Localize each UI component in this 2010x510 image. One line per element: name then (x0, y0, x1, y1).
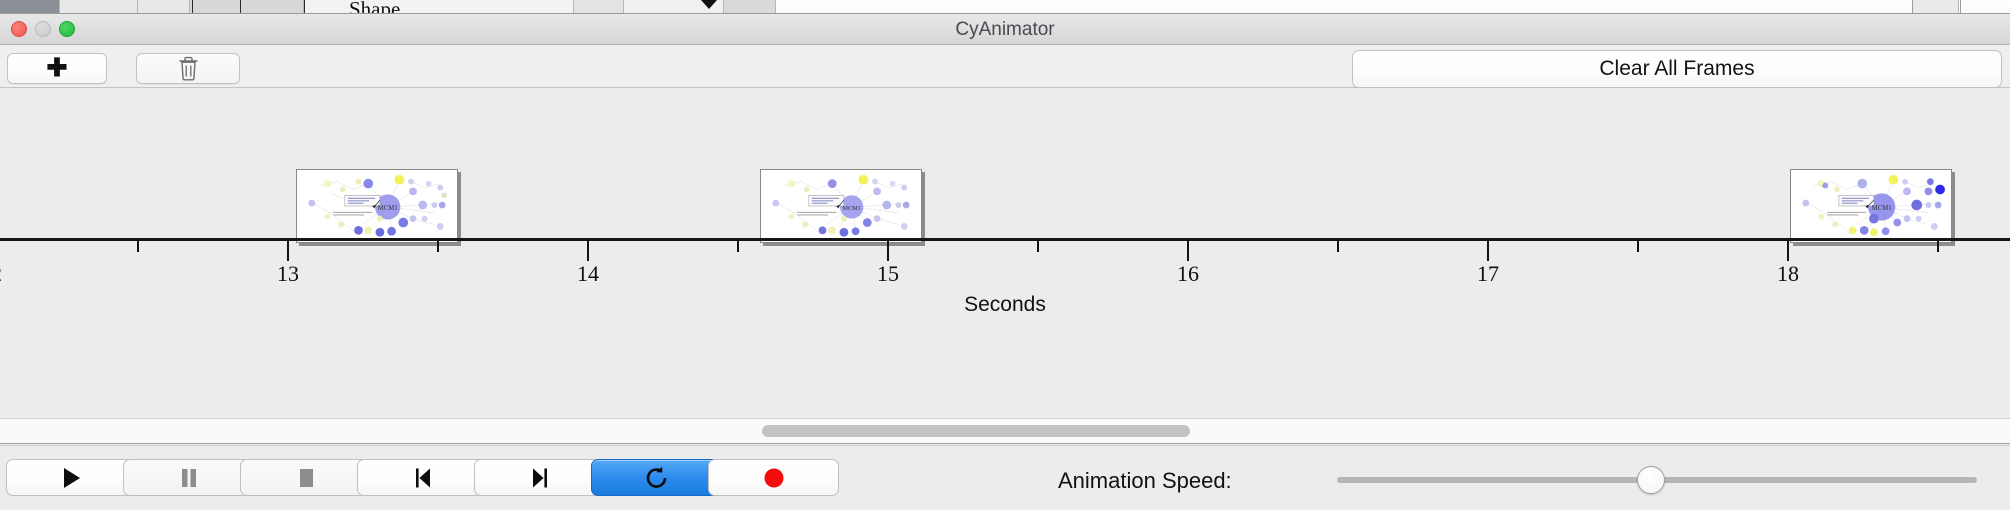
frame-thumbnail[interactable]: MCM1 (1790, 169, 1952, 243)
window-title: CyAnimator (0, 14, 2010, 45)
frame-thumbnail[interactable]: MCM1 (760, 169, 922, 243)
axis-tick-major (287, 241, 289, 261)
bg-strip-segment (574, 0, 624, 14)
skip-previous-icon (412, 466, 434, 490)
clear-all-frames-button[interactable]: Clear All Frames (1352, 50, 2002, 88)
bg-strip-segment (304, 0, 574, 14)
bg-strip-segment (724, 0, 776, 14)
toolbar: ✚ Clear All Frames (0, 45, 2010, 88)
axis-tick-label: 13 (277, 261, 299, 287)
bg-strip-segment (0, 0, 60, 14)
next-frame-button[interactable] (474, 459, 605, 496)
animation-speed-slider-thumb[interactable] (1637, 466, 1665, 494)
background-cursor-arrow (701, 0, 717, 9)
frame-thumbnail[interactable]: MCM1 (296, 169, 458, 243)
axis-tick-major (1787, 241, 1789, 261)
pause-button[interactable] (123, 459, 254, 496)
axis-tick-major (1487, 241, 1489, 261)
network-graph-thumbnail: MCM1 (1791, 170, 1951, 242)
record-icon (762, 466, 786, 490)
axis-tick-label: 15 (877, 261, 899, 287)
animation-speed-label: Animation Speed: (1058, 468, 1232, 494)
svg-text:MCM1: MCM1 (842, 205, 861, 212)
axis-tick-major (1187, 241, 1189, 261)
axis-tick-minor (437, 241, 439, 252)
axis-tick-minor (1037, 241, 1039, 252)
title-bar: CyAnimator (0, 14, 2010, 45)
axis-tick-label: 18 (1777, 261, 1799, 287)
background-tab-label: Shape (349, 0, 400, 14)
add-frame-button[interactable]: ✚ (7, 53, 107, 84)
play-button[interactable] (6, 459, 137, 496)
stop-icon (295, 466, 317, 490)
previous-frame-button[interactable] (357, 459, 488, 496)
axis-tick-minor (137, 241, 139, 252)
axis-tick-minor (1337, 241, 1339, 252)
axis-tick-label: 14 (577, 261, 599, 287)
bg-strip-segment (138, 0, 190, 14)
bg-strip-divider (1960, 0, 1961, 14)
skip-next-icon (529, 466, 551, 490)
play-icon (61, 466, 83, 490)
axis-tick-label: 17 (1477, 261, 1499, 287)
bg-strip-divider (304, 0, 305, 14)
plus-icon: ✚ (47, 56, 68, 81)
timeline-scrollbar[interactable] (0, 418, 2010, 444)
network-graph-thumbnail: MCM1 (297, 170, 457, 242)
background-window-strip: Shape (0, 0, 2010, 14)
clear-all-frames-label: Clear All Frames (1599, 57, 1754, 81)
timeline-panel[interactable]: MCM1 (0, 88, 2010, 418)
trash-icon (178, 56, 199, 81)
loop-button[interactable] (591, 459, 722, 496)
axis-tick-minor (737, 241, 739, 252)
loop-icon (644, 465, 670, 491)
scrollbar-thumb[interactable] (762, 425, 1190, 437)
axis-tick-minor (1937, 241, 1939, 252)
playback-controls: Animation Speed: (0, 445, 2010, 510)
stop-button[interactable] (240, 459, 371, 496)
axis-tick-major (887, 241, 889, 261)
record-button[interactable] (708, 459, 839, 496)
svg-text:MCM1: MCM1 (1872, 205, 1892, 212)
axis-tick-minor (1637, 241, 1639, 252)
svg-text:MCM1: MCM1 (378, 205, 398, 212)
bg-strip-segment (1913, 0, 1959, 14)
bg-strip-divider (192, 0, 193, 14)
pause-icon (178, 466, 200, 490)
axis-title: Seconds (0, 293, 2010, 317)
network-graph-thumbnail: MCM1 (761, 170, 921, 242)
bg-strip-divider (240, 0, 241, 14)
axis-tick-label: 16 (1177, 261, 1199, 287)
cyanimator-window: Shape CyAnimator ✚ Clear All Frames (0, 0, 2010, 510)
axis-tick-major (587, 241, 589, 261)
delete-frame-button[interactable] (136, 53, 240, 84)
bg-strip-segment (60, 0, 138, 14)
bg-strip-segment (190, 0, 304, 14)
axis-tick-label: 12 (0, 261, 2, 287)
timeline-axis (0, 238, 2010, 241)
